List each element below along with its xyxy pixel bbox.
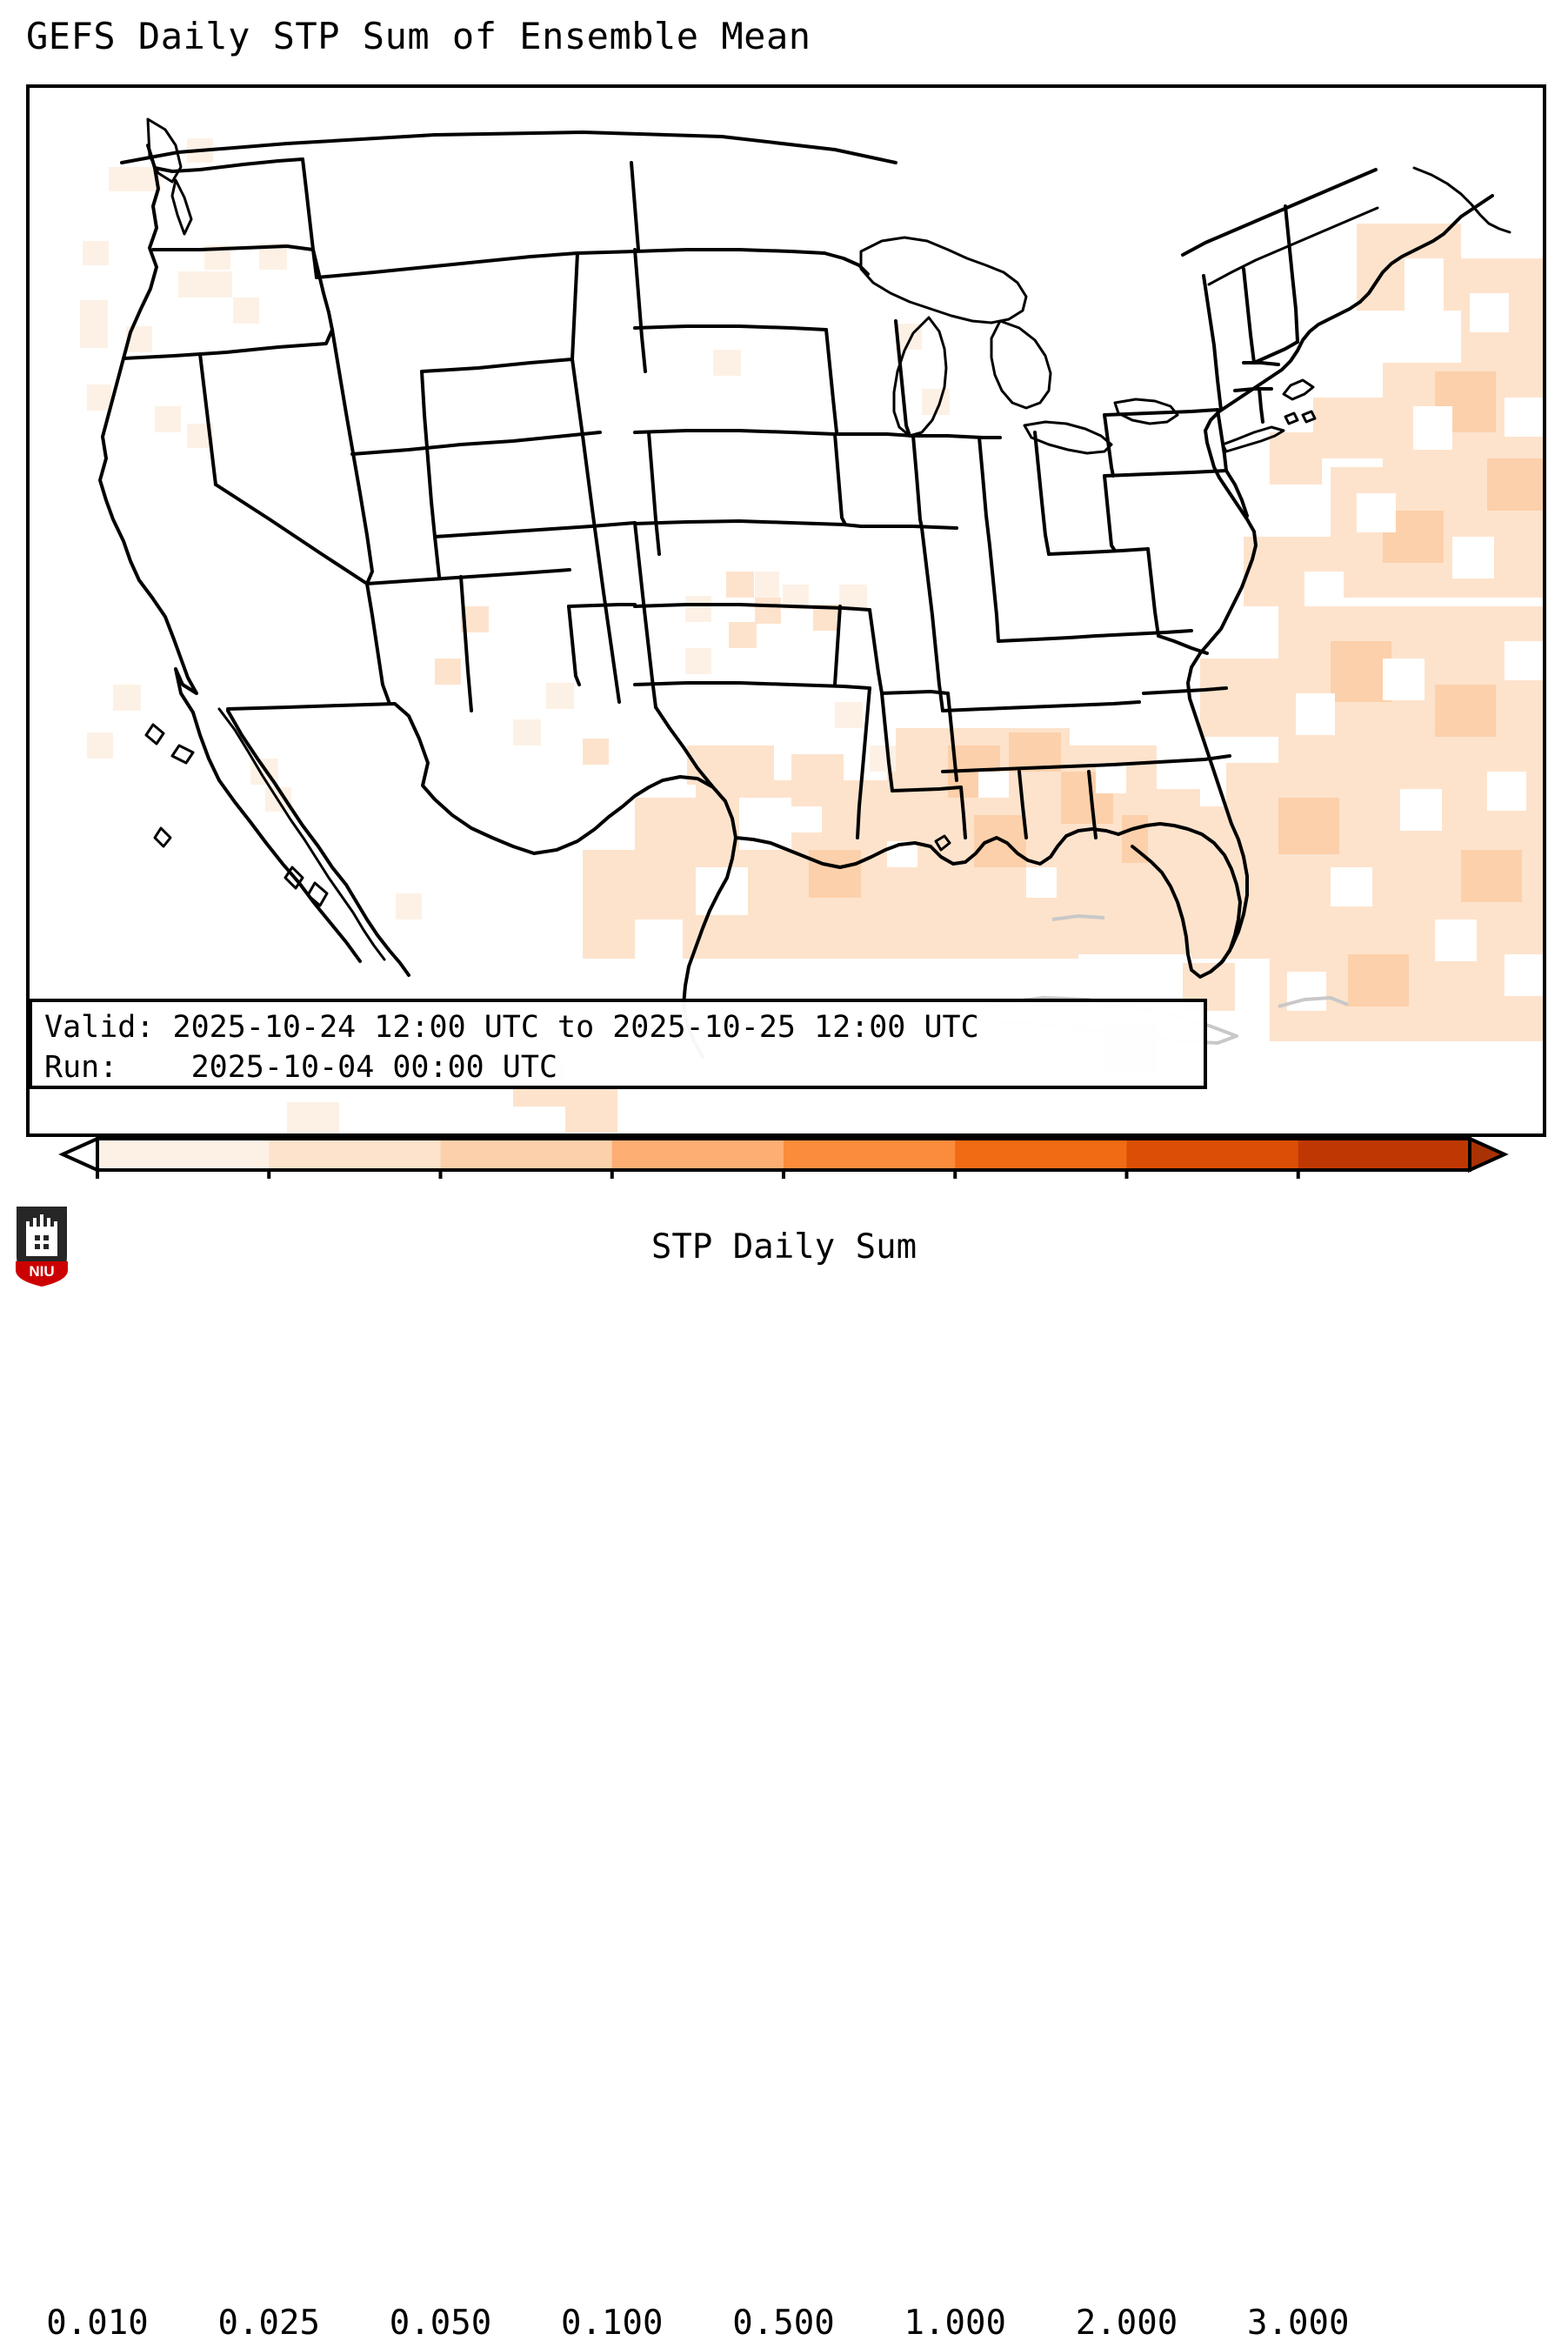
colorbar-tick-label: 0.500 (732, 2304, 834, 2344)
colorbar-tick-label: 2.000 (1076, 2304, 1178, 2344)
valid-time-line: Valid: 2025-10-24 12:00 UTC to 2025-10-2… (44, 1007, 1191, 1047)
colorbar-tick-label: 3.000 (1247, 2304, 1349, 2344)
colorbar-under-arrow (63, 1139, 97, 1170)
map-panel[interactable] (26, 84, 1546, 1137)
wi-il (910, 436, 1000, 438)
colorbar-tick-label: 0.025 (218, 2304, 320, 2344)
colorbar-tick-label: 0.100 (561, 2304, 663, 2344)
colorbar-tick-labels: 0.0100.0250.0500.1000.5001.0002.0003.000 (0, 2304, 1568, 2347)
colorbar-tick-label: 0.050 (390, 2304, 491, 2344)
run-time-line: Run: 2025-10-04 00:00 UTC (44, 1047, 1191, 1087)
ma-nh (1244, 363, 1278, 364)
ok-panhandle-north (569, 605, 635, 606)
ma-ct-ri (1235, 389, 1271, 391)
page-title: GEFS Daily STP Sum of Ensemble Mean (26, 14, 811, 59)
colorbar-tick-label: 0.010 (46, 2304, 148, 2344)
colorbar-segment (955, 1139, 1127, 1170)
colorbar-segment (441, 1139, 613, 1170)
colorbar-canvas (0, 1127, 1568, 1179)
colorbar-segment (269, 1139, 441, 1170)
colorbar-segment (612, 1139, 784, 1170)
figure-root: GEFS Daily STP Sum of Ensemble Mean (0, 0, 1568, 1305)
colorbar-segment (784, 1139, 956, 1170)
colorbar-segment (1127, 1139, 1299, 1170)
colorbar-segment (1298, 1139, 1471, 1170)
mo-ar (882, 692, 948, 693)
niu-band-label: NIU (29, 1263, 54, 1280)
ia-mo (861, 526, 957, 528)
colorbar-segments (97, 1139, 1471, 1170)
niu-logo[interactable]: NIU (12, 1202, 71, 1289)
mn-ia (835, 434, 913, 436)
colorbar-over-arrow (1470, 1139, 1505, 1170)
colorbar-segment (97, 1139, 270, 1170)
colorbar-axis-label: STP Daily Sum (0, 1227, 1568, 1268)
colorbar-tick-label: 1.000 (904, 2304, 1006, 2344)
map-canvas (26, 84, 1546, 1137)
info-box: Valid: 2025-10-24 12:00 UTC to 2025-10-2… (29, 999, 1207, 1089)
colorbar[interactable]: 0.0100.0250.0500.1000.5001.0002.0003.000 (0, 1127, 1568, 1179)
